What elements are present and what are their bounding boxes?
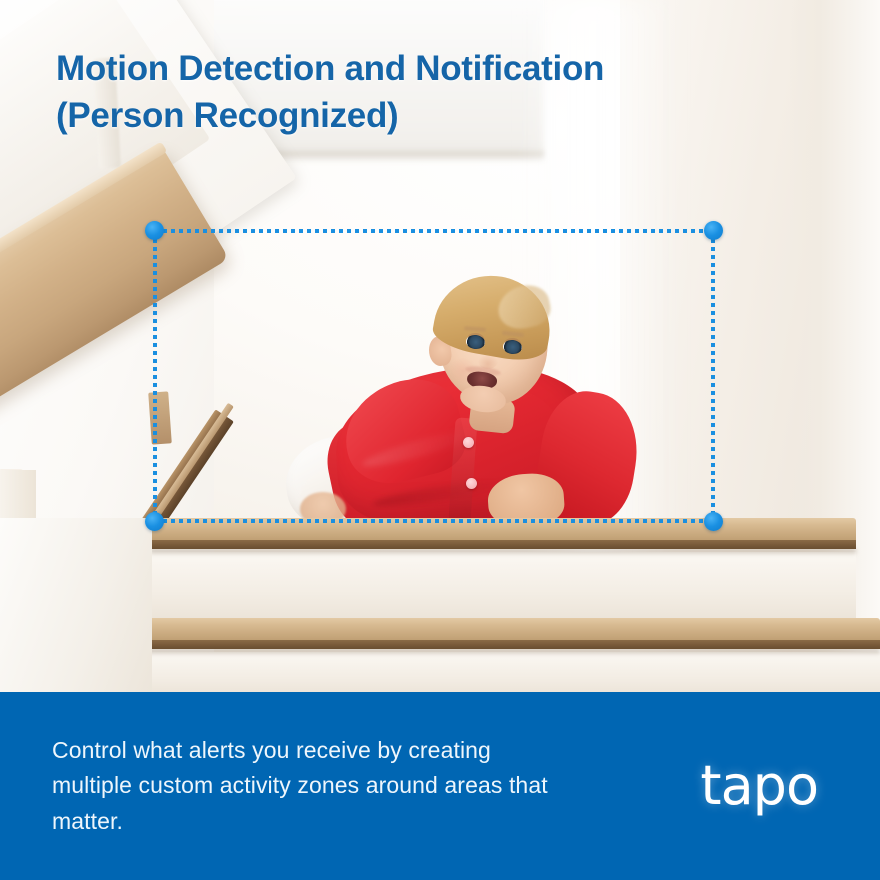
stair-riser-1 — [138, 552, 856, 622]
zone-handle-bottom-right[interactable] — [704, 512, 723, 531]
page-title-line-2: (Person Recognized) — [56, 93, 776, 140]
stair-side-wall — [0, 518, 152, 692]
brand-logo-wrap: tapo — [700, 759, 880, 813]
promo-card: Motion Detection and Notification (Perso… — [0, 0, 880, 880]
tread-face — [128, 618, 880, 640]
stair-tread-1 — [150, 518, 856, 556]
tread-shadow — [128, 649, 880, 655]
zone-handle-bottom-left[interactable] — [145, 512, 164, 531]
footer-description: Control what alerts you receive by creat… — [0, 733, 548, 840]
footer-description-line-3: matter. — [52, 804, 548, 840]
tread-nosing — [150, 540, 856, 549]
zone-edge-bottom[interactable] — [155, 519, 713, 523]
page-title-line-1: Motion Detection and Notification — [56, 46, 776, 93]
page-title: Motion Detection and Notification (Perso… — [56, 46, 776, 139]
tapo-logo: tapo — [700, 759, 880, 813]
zone-edge-right[interactable] — [711, 231, 715, 521]
footer-banner: Control what alerts you receive by creat… — [0, 692, 880, 880]
stair-tread-2 — [128, 618, 880, 656]
camera-view: Motion Detection and Notification (Perso… — [0, 0, 880, 692]
footer-description-line-1: Control what alerts you receive by creat… — [52, 733, 548, 769]
footer-description-line-2: multiple custom activity zones around ar… — [52, 768, 548, 804]
zone-handle-top-right[interactable] — [704, 221, 723, 240]
zone-edge-left[interactable] — [153, 231, 157, 521]
activity-zone-box[interactable] — [155, 231, 713, 521]
tread-nosing — [128, 640, 880, 649]
zone-handle-top-left[interactable] — [145, 221, 164, 240]
tread-shadow — [150, 549, 856, 555]
zone-edge-top[interactable] — [155, 229, 713, 233]
stair-riser-2 — [112, 652, 880, 692]
